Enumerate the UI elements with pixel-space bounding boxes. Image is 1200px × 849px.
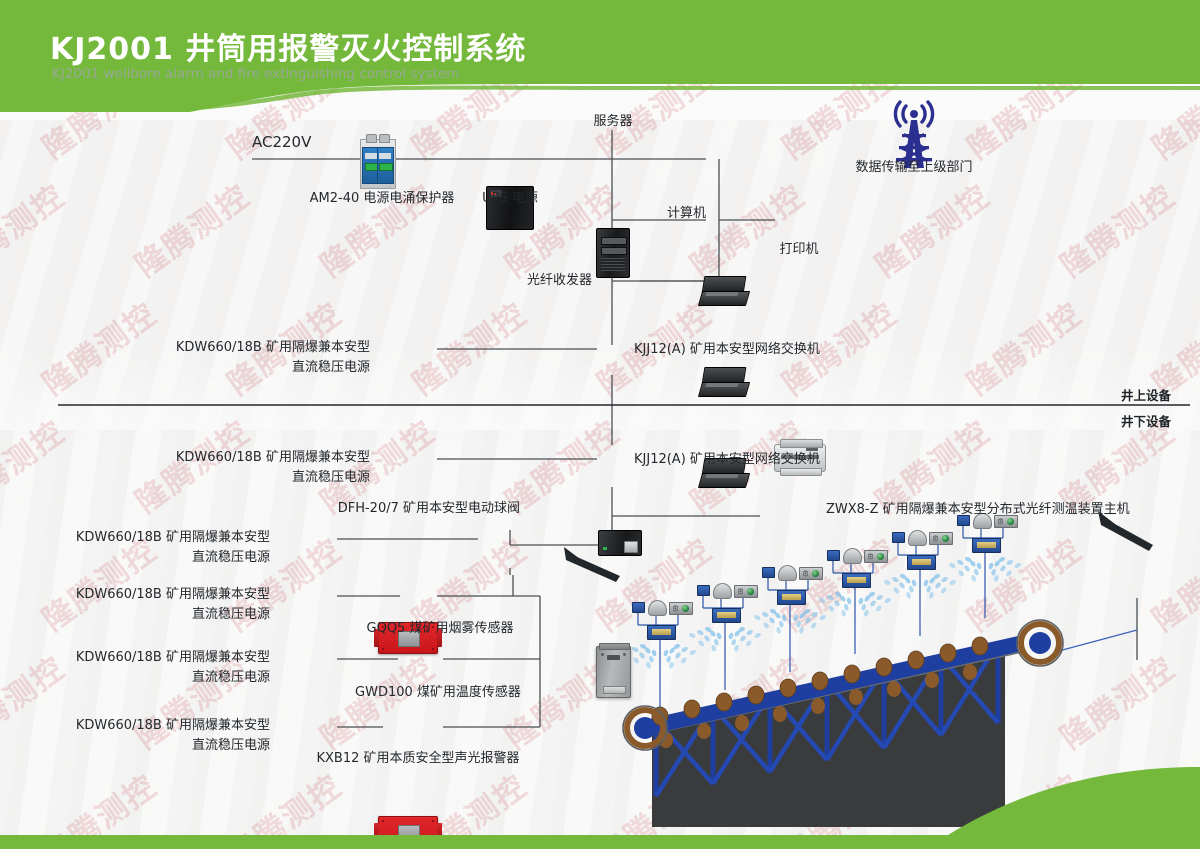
label-power-supply-u1: KDW660/18B 矿用隔爆兼本安型 直流稳压电源 xyxy=(108,448,370,488)
label-ac220v: AC220V xyxy=(252,133,311,151)
label-power-supply-surface: KDW660/18B 矿用隔爆兼本安型 直流稳压电源 xyxy=(108,338,370,378)
label-computer: 计算机 xyxy=(600,205,706,223)
label-sound-light-alarm: KXB12 矿用本质安全型声光报警器 xyxy=(313,750,523,768)
label-power-supply-u2: KDW660/18B 矿用隔爆兼本安型 直流稳压电源 xyxy=(10,528,270,568)
label-above-ground: 井上设备 xyxy=(1121,385,1171,404)
label-power-supply-u3: KDW660/18B 矿用隔爆兼本安型 直流稳压电源 xyxy=(10,585,270,625)
label-switch-underground: KJJ12(A) 矿用本安型网络交换机 xyxy=(634,451,820,469)
label-dts-host: ZWX8-Z 矿用隔爆兼本安型分布式光纤测温装置主机 xyxy=(826,501,1130,519)
label-server: 服务器 xyxy=(572,113,654,131)
label-smoke-sensor: GQQ5 煤矿用烟雾传感器 xyxy=(340,620,540,638)
label-fiber-transceiver: 光纤收发器 xyxy=(460,272,592,290)
label-power-supply-u4: KDW660/18B 矿用隔爆兼本安型 直流稳压电源 xyxy=(10,648,270,688)
label-ups: UPS 电源 xyxy=(468,190,552,208)
label-data-uplink: 数据传输至上级部门 xyxy=(843,159,985,177)
label-below-ground: 井下设备 xyxy=(1121,411,1171,430)
label-switch-surface: KJJ12(A) 矿用本安型网络交换机 xyxy=(634,341,820,359)
ps-line2: 直流稳压电源 xyxy=(108,358,370,378)
diagram-page: 隆腾测控隆腾测控隆腾测控隆腾测控隆腾测控隆腾测控隆腾测控隆腾测控隆腾测控隆腾测控… xyxy=(0,0,1200,849)
label-ball-valve: DFH-20/7 矿用本安型电动球阀 xyxy=(285,500,520,518)
page-subtitle: KJ2001 wellbore alarm and fire extinguis… xyxy=(52,66,459,82)
ps-line1: KDW660/18B 矿用隔爆兼本安型 xyxy=(108,338,370,358)
label-temperature-sensor: GWD100 煤矿用温度传感器 xyxy=(338,684,538,702)
page-title: KJ2001 井筒用报警灭火控制系统 xyxy=(50,24,526,68)
label-surge-protector: AM2-40 电源电涌保护器 xyxy=(307,190,457,208)
label-printer: 打印机 xyxy=(757,241,841,259)
label-power-supply-u5: KDW660/18B 矿用隔爆兼本安型 直流稳压电源 xyxy=(10,716,270,756)
